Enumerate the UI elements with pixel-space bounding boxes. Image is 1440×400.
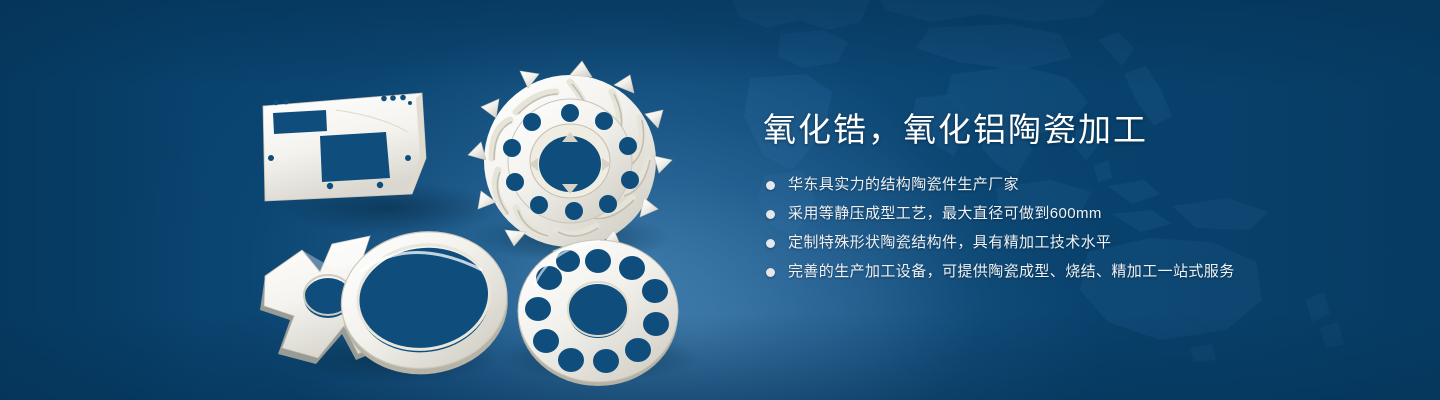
copy-block: 氧化锆，氧化铝陶瓷加工 华东具实力的结构陶瓷件生产厂家 采用等静压成型工艺，最大…: [763, 108, 1363, 291]
page-title: 氧化锆，氧化铝陶瓷加工: [763, 108, 1363, 152]
feature-list: 华东具实力的结构陶瓷件生产厂家 采用等静压成型工艺，最大直径可做到600mm 定…: [766, 175, 1363, 282]
list-item: 华东具实力的结构陶瓷件生产厂家: [766, 175, 1363, 195]
bullet-dot-icon: [766, 181, 775, 190]
list-item: 完善的生产加工设备，可提供陶瓷成型、烧结、精加工一站式服务: [766, 262, 1363, 282]
list-item-label: 完善的生产加工设备，可提供陶瓷成型、烧结、精加工一站式服务: [788, 262, 1235, 282]
product-photo-group: [240, 58, 690, 383]
list-item: 定制特殊形状陶瓷结构件，具有精加工技术水平: [766, 233, 1363, 253]
list-item-label: 定制特殊形状陶瓷结构件，具有精加工技术水平: [788, 233, 1111, 253]
list-item-label: 华东具实力的结构陶瓷件生产厂家: [788, 175, 1019, 195]
bullet-dot-icon: [766, 268, 775, 277]
ceramic-hero-banner: 氧化锆，氧化铝陶瓷加工 华东具实力的结构陶瓷件生产厂家 采用等静压成型工艺，最大…: [0, 0, 1440, 400]
bullet-dot-icon: [766, 239, 775, 248]
product-ceramic-perforated-disc: [518, 240, 678, 386]
product-ceramic-machined-plate: [263, 93, 426, 201]
list-item-label: 采用等静压成型工艺，最大直径可做到600mm: [788, 204, 1102, 224]
bullet-dot-icon: [766, 210, 775, 219]
list-item: 采用等静压成型工艺，最大直径可做到600mm: [766, 204, 1363, 224]
